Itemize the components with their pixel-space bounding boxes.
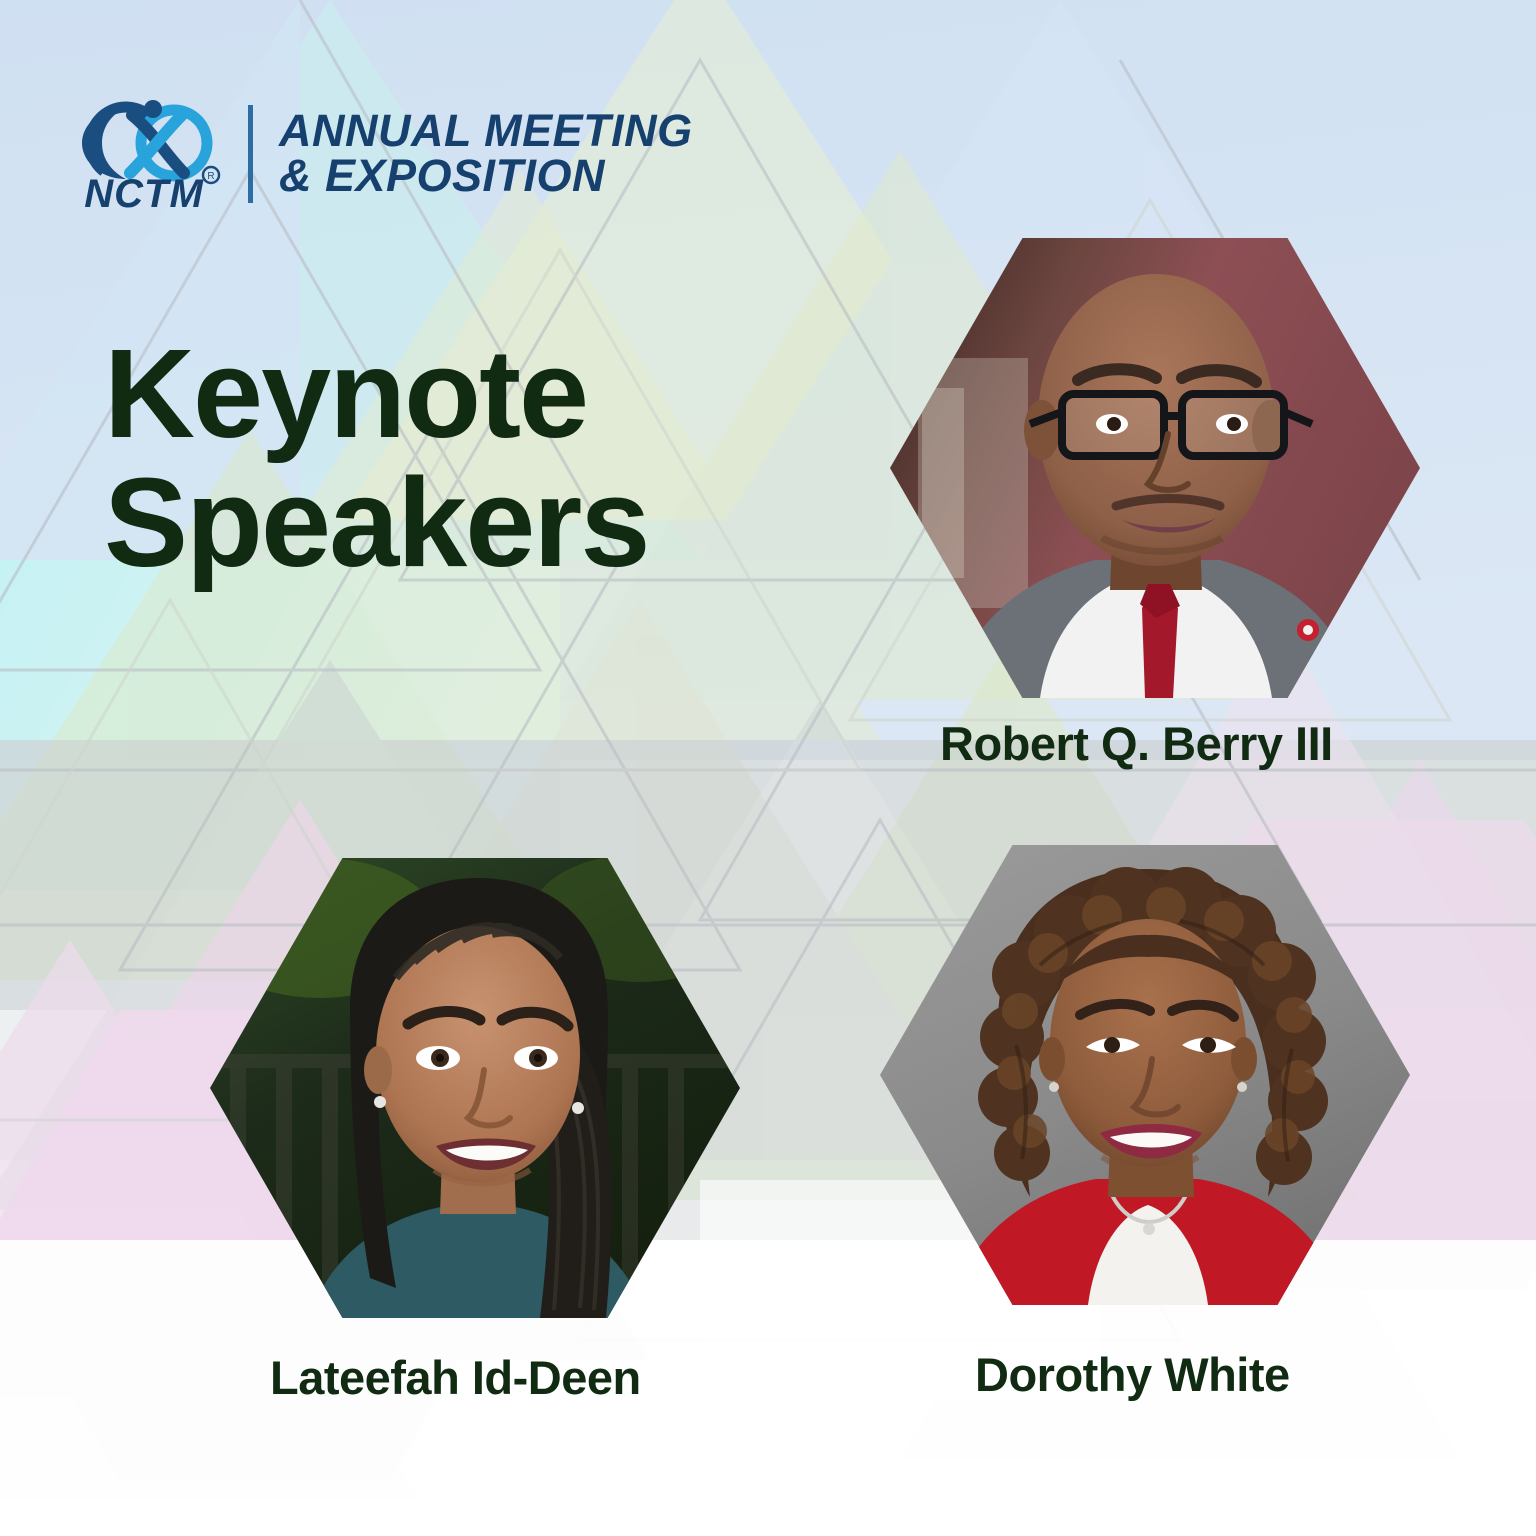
speaker-photo-lateefah-iddeen: [210, 858, 740, 1318]
meeting-line-2: & EXPOSITION: [279, 154, 693, 199]
svg-text:R: R: [207, 171, 214, 182]
meeting-line-1: ANNUAL MEETING: [279, 109, 693, 154]
meeting-title-block: ANNUAL MEETING & EXPOSITION: [279, 109, 693, 198]
event-header: R NCTM ANNUAL MEETING & EXPOSITION: [70, 95, 693, 213]
speaker-card-dorothy-white: Dorothy White: [880, 845, 1410, 1305]
speaker-photo-robert-berry: [890, 238, 1420, 698]
speaker-name-robert-berry: Robert Q. Berry III: [940, 716, 1333, 771]
speaker-card-robert-berry: Robert Q. Berry III: [890, 238, 1420, 698]
svg-text:NCTM: NCTM: [84, 172, 204, 213]
speaker-card-lateefah-iddeen: Lateefah Id-Deen: [210, 858, 740, 1318]
nctm-infinity-figure-logo-icon: R NCTM: [70, 95, 222, 213]
header-divider: [248, 105, 253, 203]
nctm-logo: R NCTM: [70, 95, 222, 213]
speaker-photo-dorothy-white: [880, 845, 1410, 1305]
page-title-line-2: Speakers: [104, 459, 648, 588]
keynote-speakers-poster: R NCTM ANNUAL MEETING & EXPOSITION 2025 …: [0, 0, 1536, 1536]
speaker-name-lateefah-iddeen: Lateefah Id-Deen: [270, 1350, 641, 1405]
page-title-line-1: Keynote: [104, 330, 648, 459]
page-title: Keynote Speakers: [104, 330, 648, 587]
speaker-name-dorothy-white: Dorothy White: [975, 1347, 1290, 1402]
